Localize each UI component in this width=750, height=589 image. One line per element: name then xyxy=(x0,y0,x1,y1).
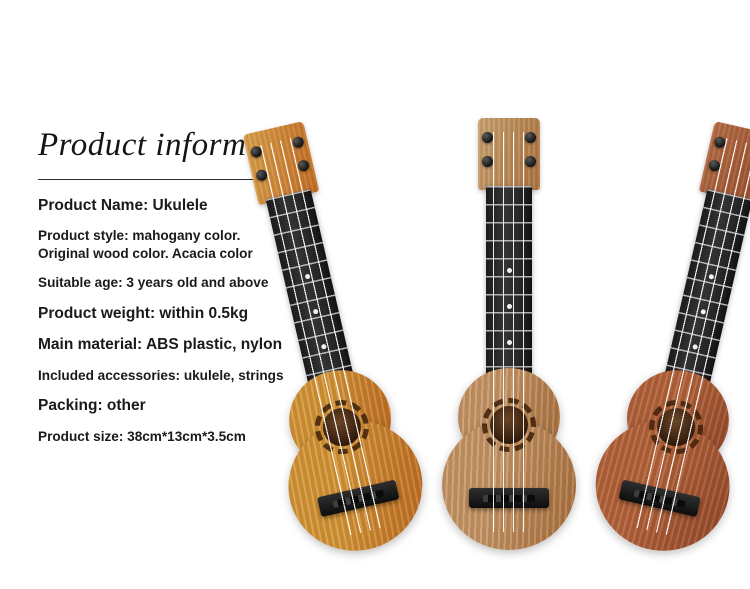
tuning-peg-icon xyxy=(525,156,536,167)
tuning-peg-icon xyxy=(482,132,493,143)
soundhole xyxy=(490,406,528,444)
fret-marker-dot xyxy=(692,344,698,350)
fret-marker-dot xyxy=(708,274,714,280)
fretboard xyxy=(486,186,532,394)
fret-marker-dot xyxy=(507,304,512,309)
tuning-peg-icon xyxy=(708,159,721,172)
fret-marker-dot xyxy=(304,274,310,280)
ukulele-body xyxy=(583,357,750,564)
bridge xyxy=(469,488,549,508)
tuning-peg-icon xyxy=(297,159,310,172)
tuning-peg-icon xyxy=(292,136,305,149)
ukulele-body xyxy=(442,368,576,550)
spec-product-size: Product size: 38cm*13cm*3.5cm xyxy=(38,428,290,446)
ukulele-product-photo xyxy=(268,110,750,580)
tuning-peg-icon xyxy=(250,145,263,158)
tuning-peg-icon xyxy=(482,156,493,167)
fret-marker-dot xyxy=(320,344,326,350)
fret-marker-dot xyxy=(507,340,512,345)
ukulele-acacia xyxy=(575,103,750,565)
fret-marker-dot xyxy=(312,309,318,315)
product-information-image: Product inform Product Name: Ukulele Pro… xyxy=(0,0,750,589)
ukulele-original-wood xyxy=(434,110,584,550)
ukulele-body xyxy=(264,357,436,564)
fret-marker-dot xyxy=(700,309,706,315)
tuning-peg-icon xyxy=(713,136,726,149)
tuning-peg-icon xyxy=(255,169,268,182)
fret-marker-dot xyxy=(507,268,512,273)
headstock xyxy=(478,118,540,190)
tuning-peg-icon xyxy=(525,132,536,143)
